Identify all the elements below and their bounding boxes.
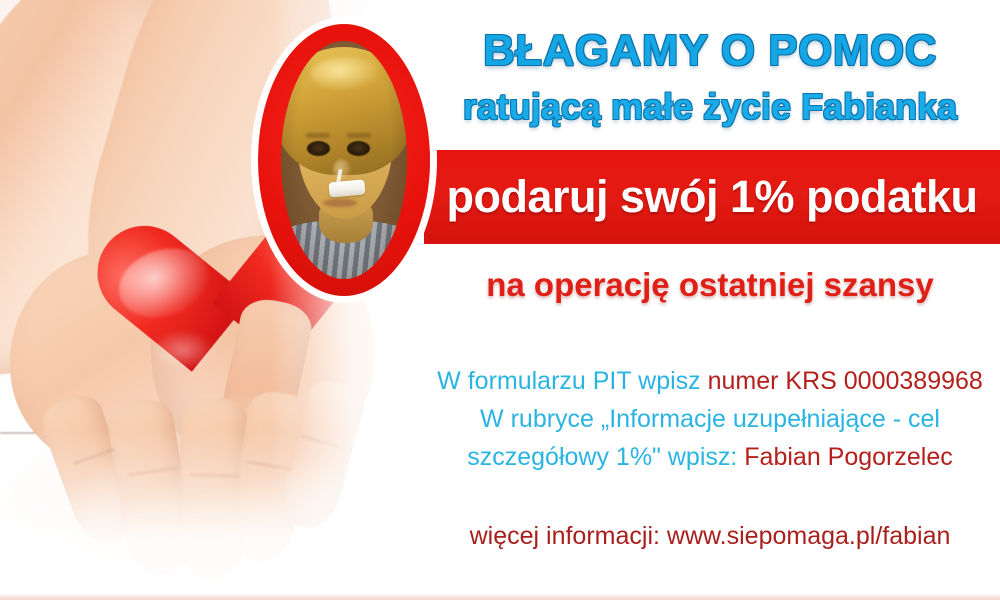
instruction-line: W rubryce „Informacje uzupełniające - ce… bbox=[420, 400, 1000, 438]
tagline: na operację ostatniej szansy bbox=[420, 266, 1000, 304]
child-photo bbox=[281, 41, 407, 279]
bottom-border-strip bbox=[0, 594, 1000, 600]
headline: BŁAGAMY O POMOC bbox=[420, 26, 1000, 76]
subheadline: ratującą małe życie Fabianka bbox=[420, 86, 1000, 128]
krs-number: numer KRS 0000389968 bbox=[708, 367, 983, 395]
beneficiary-name: Fabian Pogorzelec bbox=[744, 443, 952, 471]
text-column: BŁAGAMY O POMOC ratującą małe życie Fabi… bbox=[420, 0, 1000, 600]
charity-appeal-poster: podaruj swój 1% podatku BŁAGAMY O POMOC … bbox=[0, 0, 1000, 600]
instruction-line: W formularzu PIT wpisz numer KRS 0000389… bbox=[420, 362, 1000, 400]
instruction-line: szczegółowy 1%" wpisz: Fabian Pogorzelec bbox=[420, 438, 1000, 476]
instructions-block: W formularzu PIT wpisz numer KRS 0000389… bbox=[420, 362, 1000, 476]
instruction-blue-text: W rubryce „Informacje uzupełniające - ce… bbox=[480, 405, 940, 433]
child-portrait-oval bbox=[258, 24, 430, 296]
more-info-url[interactable]: więcej informacji: www.siepomaga.pl/fabi… bbox=[420, 522, 1000, 551]
instruction-blue-text: W formularzu PIT wpisz bbox=[437, 367, 707, 395]
photo-vignette bbox=[281, 41, 407, 279]
instruction-blue-text: szczegółowy 1%" wpisz: bbox=[467, 443, 744, 471]
heart-highlight bbox=[150, 330, 214, 370]
